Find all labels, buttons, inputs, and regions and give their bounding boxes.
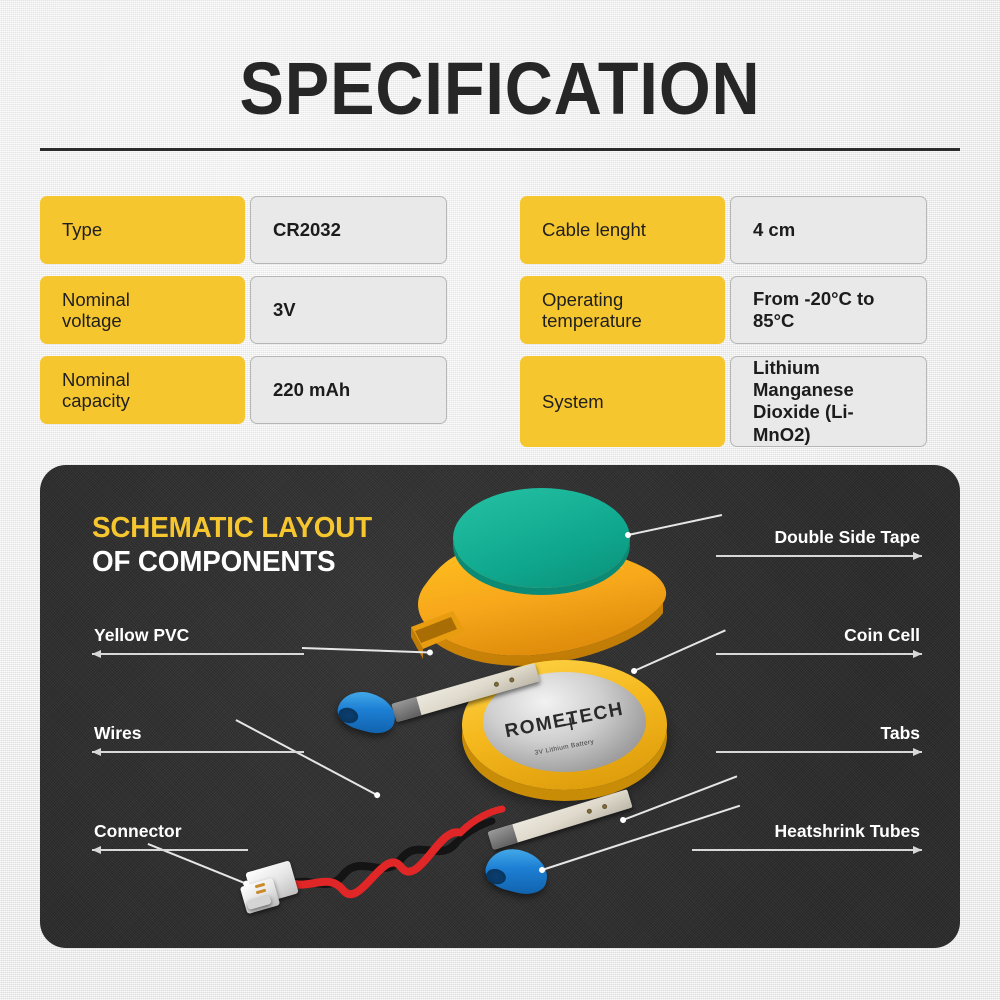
spec-value-system: Lithium Manganese Dioxide (Li-MnO2)	[730, 356, 927, 447]
spec-row-cable-lenght: Cable lenght 4 cm	[520, 196, 960, 264]
tab-hole	[586, 808, 592, 814]
spec-row-nominal-voltage: Nominal voltage 3V	[40, 276, 480, 344]
callout-heatshrink-tubes: Heatshrink Tubes	[692, 801, 922, 851]
callout-tabs: Tabs	[716, 703, 922, 753]
callout-line	[716, 555, 922, 557]
title-divider	[40, 148, 960, 151]
callout-label-yellow-pvc: Yellow PVC	[94, 625, 189, 646]
spec-value-operating-temperature: From -20°C to 85°C	[730, 276, 927, 344]
spec-value-type: CR2032	[250, 196, 447, 264]
callout-double-side-tape: Double Side Tape	[716, 507, 922, 557]
callout-wires: Wires	[92, 703, 304, 753]
spec-row-system: System Lithium Manganese Dioxide (Li-MnO…	[520, 356, 960, 424]
callout-line	[716, 653, 922, 655]
callout-line	[92, 653, 304, 655]
callout-label-double-side-tape: Double Side Tape	[774, 527, 920, 548]
spec-label-nominal-voltage: Nominal voltage	[40, 276, 245, 344]
callout-line	[692, 849, 922, 851]
callout-arrow-left-icon	[92, 748, 101, 756]
callout-label-heatshrink-tubes: Heatshrink Tubes	[774, 821, 920, 842]
callout-line	[92, 849, 248, 851]
callout-arrow-right-icon	[913, 552, 922, 560]
spec-value-nominal-voltage: 3V	[250, 276, 447, 344]
callout-arrow-right-icon	[913, 650, 922, 658]
spec-label-operating-temperature: Operating temperature	[520, 276, 725, 344]
spec-row-nominal-capacity: Nominal capacity 220 mAh	[40, 356, 480, 424]
spec-label-nominal-capacity: Nominal capacity	[40, 356, 245, 424]
tab-hole	[601, 803, 607, 809]
callout-label-connector: Connector	[94, 821, 182, 842]
jst-connector	[243, 862, 305, 914]
callout-label-tabs: Tabs	[880, 723, 920, 744]
specification-table: Type CR2032 Cable lenght 4 cm Nominal vo…	[40, 196, 960, 424]
tab-hole	[493, 681, 499, 687]
tab-hole	[509, 676, 515, 682]
callout-arrow-left-icon	[92, 846, 101, 854]
schematic-layout-panel: SCHEMATIC LAYOUT OF COMPONENTS	[40, 465, 960, 948]
callout-arrow-right-icon	[913, 748, 922, 756]
spec-label-system: System	[520, 356, 725, 447]
spec-label-type: Type	[40, 196, 245, 264]
spec-row-type: Type CR2032	[40, 196, 480, 264]
callout-yellow-pvc: Yellow PVC	[92, 605, 304, 655]
callout-label-wires: Wires	[94, 723, 142, 744]
spec-label-cable-lenght: Cable lenght	[520, 196, 725, 264]
spec-value-nominal-capacity: 220 mAh	[250, 356, 447, 424]
double-side-tape-disc	[453, 488, 630, 588]
callout-arrow-right-icon	[913, 846, 922, 854]
callout-connector: Connector	[92, 801, 248, 851]
callout-arrow-left-icon	[92, 650, 101, 658]
spec-value-cable-lenght: 4 cm	[730, 196, 927, 264]
page-title: SPECIFICATION	[50, 52, 950, 126]
callout-line	[716, 751, 922, 753]
callout-label-coin-cell: Coin Cell	[844, 625, 920, 646]
callout-coin-cell: Coin Cell	[716, 605, 922, 655]
spec-row-operating-temperature: Operating temperature From -20°C to 85°C	[520, 276, 960, 344]
callout-line	[92, 751, 304, 753]
